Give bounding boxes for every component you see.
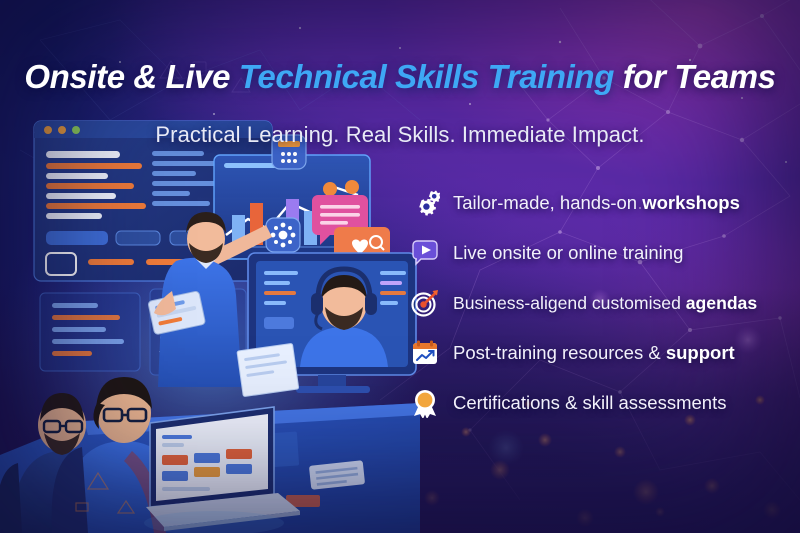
feature-text: Business-aligend customised agendas (453, 293, 757, 314)
feature-item-certifications: Certifications & skill assessments (410, 378, 792, 428)
calendar-chart-icon (410, 338, 440, 368)
promo-banner: Onsite & Live Technical Skills Training … (0, 0, 800, 533)
feature-text: Post-training resources & support (453, 342, 735, 364)
feature-item-live-training: Live onsite or online training (410, 228, 792, 278)
title-part-2: for Teams (614, 58, 776, 95)
feature-item-support: Post-training resources & support (410, 328, 792, 378)
title-accent: Technical Skills Training (239, 58, 614, 95)
title-part-1: Onsite & Live (24, 58, 238, 95)
award-ribbon-icon (410, 388, 440, 418)
video-play-icon (410, 238, 440, 268)
feature-text: Certifications & skill assessments (453, 392, 726, 414)
gears-icon (410, 188, 440, 218)
feature-text: Live onsite or online training (453, 242, 683, 264)
feature-item-workshops: Tailor-made, hands-on workshops (410, 178, 792, 228)
page-title: Onsite & Live Technical Skills Training … (0, 58, 800, 96)
target-dart-icon (410, 288, 440, 318)
page-subtitle: Practical Learning. Real Skills. Immedia… (0, 122, 800, 148)
feature-text: Tailor-made, hands-on workshops (453, 192, 740, 214)
feature-item-agendas: Business-aligend customised agendas (410, 278, 792, 328)
feature-list: Tailor-made, hands-on workshops Live ons… (410, 178, 792, 428)
